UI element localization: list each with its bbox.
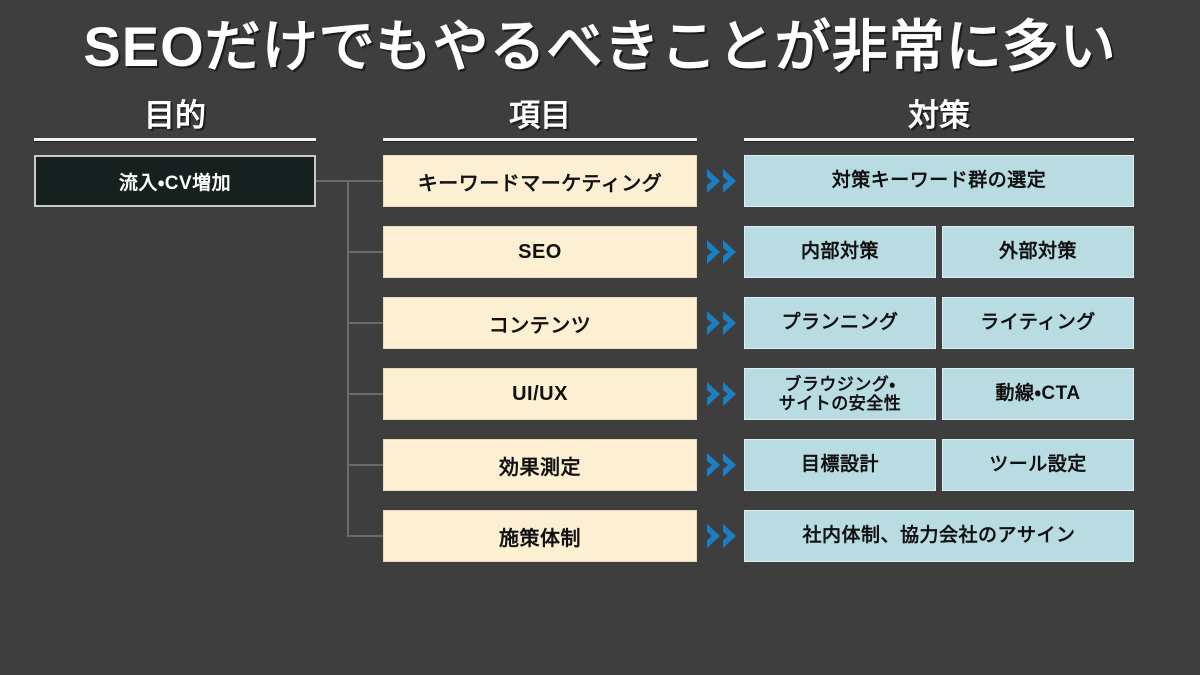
action-box-label: 内部対策 xyxy=(801,241,879,262)
action-box-label: プランニング xyxy=(781,312,898,333)
column-header-item: 項目 xyxy=(383,100,697,141)
diagram-row: SEO内部対策外部対策 xyxy=(383,226,1134,278)
double-chevron-right-icon xyxy=(701,439,744,491)
action-box-label: ツール設定 xyxy=(989,454,1087,475)
action-box-label: 外部対策 xyxy=(999,241,1077,262)
column-header-action-rule xyxy=(744,138,1134,141)
item-box-label: SEO xyxy=(518,241,562,264)
diagram-row: コンテンツプランニングライティング xyxy=(383,297,1134,349)
column-header-purpose-label: 目的 xyxy=(144,98,206,133)
item-box-label: キーワードマーケティング xyxy=(418,167,662,196)
action-box: 社内体制、協力会社のアサイン xyxy=(744,510,1134,562)
double-chevron-right-icon xyxy=(701,368,744,420)
action-box: プランニング xyxy=(744,297,936,349)
item-box-label: 効果測定 xyxy=(499,451,581,480)
action-box: 外部対策 xyxy=(942,226,1134,278)
double-chevron-right-icon xyxy=(701,155,744,207)
diagram-row: 施策体制社内体制、協力会社のアサイン xyxy=(383,510,1134,562)
diagram-row: UI/UXブラウジング・サイトの安全性動線・CTA xyxy=(383,368,1134,420)
action-box-label: 社内体制、協力会社のアサイン xyxy=(802,525,1075,546)
item-box-label: コンテンツ xyxy=(489,309,592,338)
column-header-purpose: 目的 xyxy=(34,100,316,141)
action-group: 内部対策外部対策 xyxy=(744,226,1134,278)
item-box: SEO xyxy=(383,226,697,278)
connector-stem xyxy=(316,180,349,182)
connector-branch xyxy=(347,251,383,253)
action-box: 動線・CTA xyxy=(942,368,1134,420)
item-box-label: 施策体制 xyxy=(499,522,581,551)
action-box: ブラウジング・サイトの安全性 xyxy=(744,368,936,420)
action-box-label: ライティング xyxy=(980,312,1095,333)
action-box: ライティング xyxy=(942,297,1134,349)
column-header-item-label: 項目 xyxy=(509,98,571,133)
diagram-row: 効果測定目標設計ツール設定 xyxy=(383,439,1134,491)
column-header-item-rule xyxy=(383,138,697,141)
item-box: キーワードマーケティング xyxy=(383,155,697,207)
action-group: 目標設計ツール設定 xyxy=(744,439,1134,491)
action-box-label: 目標設計 xyxy=(801,454,879,475)
action-box: 内部対策 xyxy=(744,226,936,278)
slide-canvas: SEOだけでもやるべきことが非常に多い 目的 項目 対策 流入・CV増加 キーワ… xyxy=(0,0,1200,675)
item-box-label: UI/UX xyxy=(512,383,568,406)
action-group: 対策キーワード群の選定 xyxy=(744,155,1134,207)
double-chevron-right-icon xyxy=(701,510,744,562)
action-group: プランニングライティング xyxy=(744,297,1134,349)
item-box: 効果測定 xyxy=(383,439,697,491)
connector-branch xyxy=(347,393,383,395)
connector-branch xyxy=(347,180,383,182)
action-box: 対策キーワード群の選定 xyxy=(744,155,1134,207)
column-header-action-label: 対策 xyxy=(908,98,970,133)
item-box: UI/UX xyxy=(383,368,697,420)
column-header-action: 対策 xyxy=(744,100,1134,141)
double-chevron-right-icon xyxy=(701,297,744,349)
action-box: 目標設計 xyxy=(744,439,936,491)
action-box-label: ブラウジング・サイトの安全性 xyxy=(779,375,902,413)
column-header-purpose-rule xyxy=(34,138,316,141)
purpose-box: 流入・CV増加 xyxy=(34,155,316,207)
connector-branch xyxy=(347,322,383,324)
connector-branch xyxy=(347,535,383,537)
action-box-label: 対策キーワード群の選定 xyxy=(832,170,1047,191)
double-chevron-right-icon xyxy=(701,226,744,278)
action-group: 社内体制、協力会社のアサイン xyxy=(744,510,1134,562)
action-box-label: 動線・CTA xyxy=(995,383,1080,404)
diagram-row: キーワードマーケティング対策キーワード群の選定 xyxy=(383,155,1134,207)
page-title: SEOだけでもやるべきことが非常に多い xyxy=(0,16,1200,79)
action-group: ブラウジング・サイトの安全性動線・CTA xyxy=(744,368,1134,420)
connector-trunk xyxy=(347,180,349,537)
action-box: ツール設定 xyxy=(942,439,1134,491)
item-box: コンテンツ xyxy=(383,297,697,349)
item-box: 施策体制 xyxy=(383,510,697,562)
purpose-box-label: 流入・CV増加 xyxy=(119,168,231,195)
connector-branch xyxy=(347,464,383,466)
